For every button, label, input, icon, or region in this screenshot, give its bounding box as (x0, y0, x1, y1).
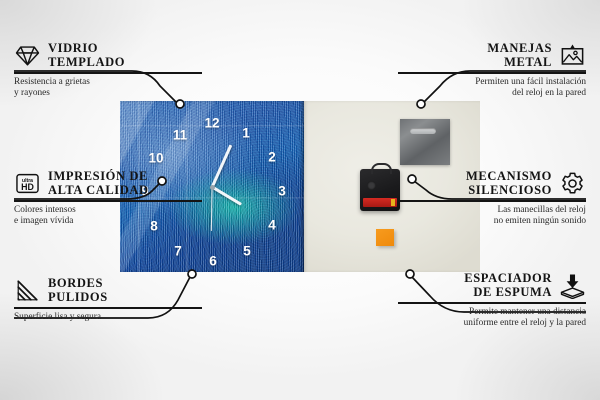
clock-numeral-5: 5 (243, 244, 251, 258)
foam-spacer-arrow-icon (559, 272, 586, 299)
clock-numeral-2: 2 (268, 150, 276, 164)
feature-title-line1: MECANISMO (466, 170, 552, 184)
clock-numeral-11: 11 (173, 128, 187, 142)
feature-desc-line1: Las manecillas del reloj (398, 205, 586, 216)
feature-bordes-pulidos[interactable]: BORDES PULIDOS Superficie lisa y segura (14, 277, 202, 323)
feature-title-line2: DE ESPUMA (464, 286, 552, 300)
ultra-hd-icon-large-text: HD (21, 182, 34, 192)
feature-desc: Superficie lisa y segura (14, 312, 202, 323)
feature-header: MECANISMO SILENCIOSO (398, 170, 586, 197)
picture-frame-hanger-icon (559, 42, 586, 69)
feature-impresion-alta-calidad[interactable]: ultra HD IMPRESIÓN DE ALTA CALIDAD Color… (14, 170, 202, 227)
feature-title-line2: ALTA CALIDAD (48, 184, 149, 198)
feature-title-line2: PULIDOS (48, 291, 108, 305)
feature-desc: Resistencia a grietas y rayones (14, 77, 202, 100)
feature-manejas-metal[interactable]: MANEJAS METAL Permiten una fácil instala… (398, 42, 586, 99)
feature-title-line1: ESPACIADOR (464, 272, 552, 286)
feature-mecanismo-silencioso[interactable]: MECANISMO SILENCIOSO Las manecillas del … (398, 170, 586, 227)
feature-rule (398, 200, 586, 202)
feature-desc-line1: Superficie lisa y segura (14, 312, 202, 323)
feature-title-line2: TEMPLADO (48, 56, 125, 70)
feature-title-line2: SILENCIOSO (466, 184, 552, 198)
hanger-slot (410, 128, 436, 134)
clock-numeral-6: 6 (209, 254, 217, 268)
feature-desc-line1: Colores intensos (14, 205, 202, 216)
feature-rule (398, 72, 586, 74)
diamond-icon (14, 42, 41, 69)
feature-espaciador-espuma[interactable]: ESPACIADOR DE ESPUMA Permite mantener un… (398, 272, 586, 329)
feature-header: MANEJAS METAL (398, 42, 586, 69)
clock-numeral-12: 12 (204, 116, 219, 130)
feature-title-line1: BORDES (48, 277, 108, 291)
feature-title-line1: VIDRIO (48, 42, 125, 56)
metal-hanger-plate (400, 119, 450, 165)
feature-header: VIDRIO TEMPLADO (14, 42, 202, 69)
clock-numeral-1: 1 (242, 126, 250, 140)
movement-setting-dial (367, 181, 376, 190)
clock-numeral-3: 3 (278, 184, 286, 198)
infographic-canvas: 12 1 2 3 4 5 6 7 8 9 10 11 (0, 0, 600, 400)
ultra-hd-icon: ultra HD (14, 170, 41, 197)
clock-numeral-4: 4 (268, 218, 276, 232)
polished-edge-icon (14, 277, 41, 304)
movement-hanging-loop (371, 163, 392, 174)
feature-desc-line2: y rayones (14, 88, 202, 99)
feature-desc: Permiten una fácil instalación del reloj… (398, 77, 586, 100)
clock-numeral-10: 10 (148, 151, 163, 165)
quartz-movement (360, 169, 400, 211)
feature-rule (398, 302, 586, 304)
feature-desc: Permite mantener una distancia uniforme … (398, 307, 586, 330)
feature-desc-line2: uniforme entre el reloj y la pared (398, 318, 586, 329)
feature-desc-line1: Permite mantener una distancia (398, 307, 586, 318)
battery (363, 198, 397, 207)
feature-desc-line2: no emiten ningún sonido (398, 216, 586, 227)
battery-tip (391, 199, 395, 206)
foam-spacer (376, 229, 394, 246)
feature-desc: Colores intensos e imagen vívida (14, 205, 202, 228)
gear-icon (559, 170, 586, 197)
feature-header: ESPACIADOR DE ESPUMA (398, 272, 586, 299)
feature-desc-line1: Resistencia a grietas (14, 77, 202, 88)
feature-rule (14, 307, 202, 309)
feature-title-line2: METAL (487, 56, 552, 70)
feature-header: ultra HD IMPRESIÓN DE ALTA CALIDAD (14, 170, 202, 197)
feature-desc-line1: Permiten una fácil instalación (398, 77, 586, 88)
feature-header: BORDES PULIDOS (14, 277, 202, 304)
feature-title-line1: MANEJAS (487, 42, 552, 56)
clock-numeral-7: 7 (174, 244, 182, 258)
feature-desc-line2: e imagen vívida (14, 216, 202, 227)
feature-rule (14, 200, 202, 202)
feature-desc-line2: del reloj en la pared (398, 88, 586, 99)
feature-rule (14, 72, 202, 74)
clock-hands-hub (210, 185, 215, 190)
feature-desc: Las manecillas del reloj no emiten ningú… (398, 205, 586, 228)
feature-vidrio-templado[interactable]: VIDRIO TEMPLADO Resistencia a grietas y … (14, 42, 202, 99)
feature-title-line1: IMPRESIÓN DE (48, 170, 149, 184)
